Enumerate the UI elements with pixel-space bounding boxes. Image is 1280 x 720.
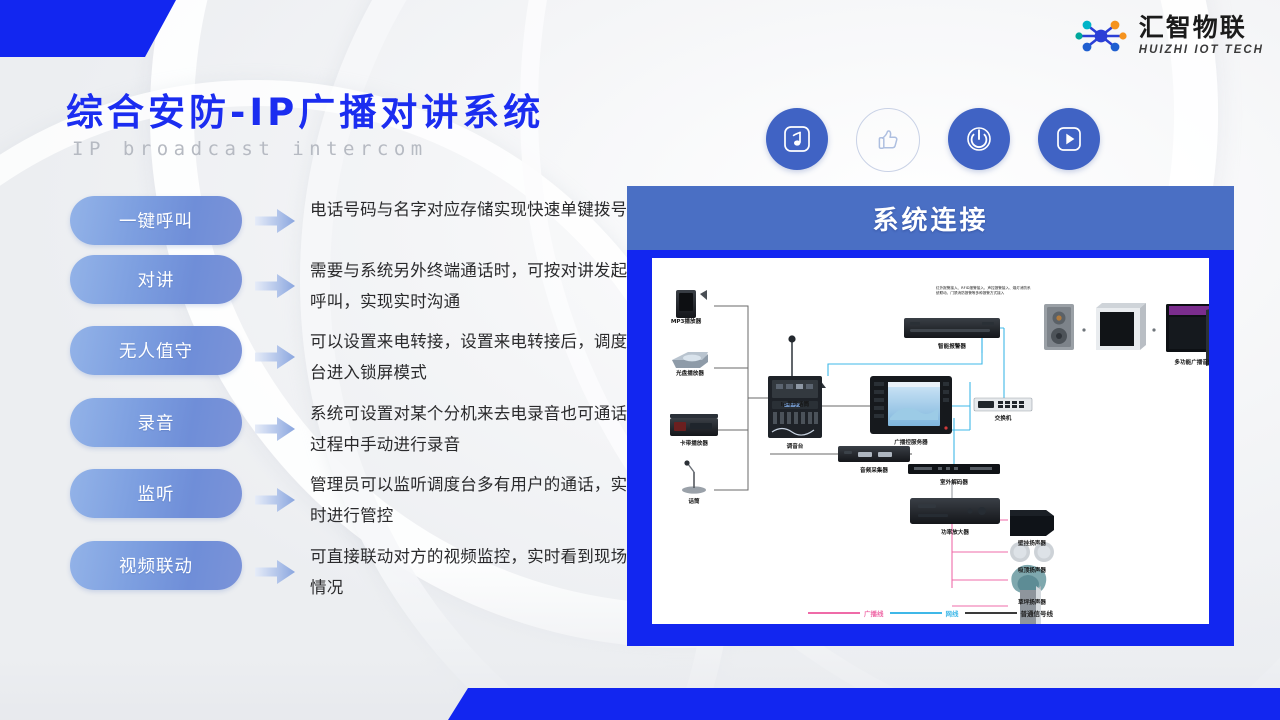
thumbs-up-icon [871, 123, 905, 157]
corner-decoration-bottom-right [448, 688, 1280, 720]
alarm-input-note: 红外报警接入、RFID报警接入、声控报警接入、煤灯消防系统联动、门禁消防报警等多… [936, 286, 1032, 296]
icon-button-row [766, 108, 1100, 172]
device-label: Ip寻呼话筒 [765, 400, 825, 408]
legend-swatch [965, 612, 1017, 614]
feature-tag-unattended[interactable]: 无人值守 [70, 326, 242, 375]
device-label: 广播控服务器 [866, 438, 956, 446]
play-icon-button[interactable] [1038, 108, 1100, 170]
feature-tag-label: 一键呼叫 [119, 208, 193, 233]
play-icon [1052, 122, 1086, 156]
device-power-amplifier: 功率放大器 [915, 527, 995, 536]
device-wall-speaker: 壁挂扬声器 [992, 538, 1072, 547]
feature-tag-recording[interactable]: 录音 [70, 398, 242, 447]
device-audio-collector: 音频采集器 [834, 465, 914, 474]
device-label: 功率放大器 [915, 528, 995, 536]
device-broadcast-server: 广播控服务器 [866, 437, 956, 446]
power-icon [962, 122, 996, 156]
legend-label: 广播线 [864, 608, 884, 618]
feature-tag-label: 视频联动 [119, 553, 193, 578]
feature-tag-label: 对讲 [138, 267, 175, 292]
arrow-right-icon [246, 272, 304, 300]
page-title: 综合安防-IP广播对讲系统 [66, 82, 544, 136]
device-lawn-speaker: 草坪扬声器 [992, 597, 1072, 606]
feature-row: 监听 管理员可以监听调度台多有用户的通话，实时进行管控 [70, 469, 630, 531]
feature-description: 电话号码与名字对应存储实现快速单键拨号 [304, 194, 630, 225]
feature-description: 系统可设置对某个分机来去电录音也可通话过程中手动进行录音 [304, 398, 630, 460]
device-label: 调音台 [765, 442, 825, 450]
corner-decoration-top-left [0, 0, 176, 57]
music-note-icon [780, 122, 814, 156]
legend-item-broadcast-line: 广播线 [808, 608, 884, 618]
brand-name-en: HUIZHI IOT TECH [1139, 45, 1264, 57]
feature-tag-video-linkage[interactable]: 视频联动 [70, 541, 242, 590]
arrow-right-icon [246, 415, 304, 443]
molecule-network-icon [1073, 16, 1129, 56]
page-subtitle: IP broadcast intercom [72, 138, 428, 160]
arrow-right-icon [246, 343, 304, 371]
brand-name-cn: 汇智物联 [1139, 15, 1264, 40]
feature-tag-monitoring[interactable]: 监听 [70, 469, 242, 518]
device-outdoor-decoder: 室外解码器 [914, 477, 994, 486]
feature-list: 一键呼叫 电话号码与名字对应存储实现快速单键拨号 对讲 需要与系统另外终端通 [70, 196, 630, 612]
feature-row: 视频联动 可直接联动对方的视频监控，实时看到现场情况 [70, 541, 630, 603]
panel-title: 系统连接 [872, 200, 988, 237]
device-mixer-console: 调音台 [765, 441, 825, 450]
device-label: 吸顶扬声器 [992, 566, 1072, 574]
system-connection-panel: 系统连接 [627, 186, 1234, 646]
device-label: 话筒 [664, 497, 724, 505]
brand-logo: 汇智物联 HUIZHI IOT TECH [1073, 10, 1264, 62]
device-label: 卡带播放器 [664, 439, 724, 447]
feature-description: 需要与系统另外终端通话时，可按对讲发起呼叫，实现实时沟通 [304, 255, 630, 317]
feature-tag-label: 无人值守 [119, 338, 193, 363]
device-multifunction-speaker-cabinet: 多功能广播音箱 [1144, 357, 1209, 366]
arrow-right-icon [246, 558, 304, 586]
power-icon-button[interactable] [948, 108, 1010, 170]
device-label: 音频采集器 [834, 466, 914, 474]
feature-tag-one-key-call[interactable]: 一键呼叫 [70, 196, 242, 245]
device-label: 多功能广播音箱 [1144, 358, 1209, 366]
slide-root: 汇智物联 HUIZHI IOT TECH 综合安防-IP广播对讲系统 IP br… [0, 0, 1280, 720]
feature-description: 管理员可以监听调度台多有用户的通话，实时进行管控 [304, 469, 630, 531]
device-label: 草坪扬声器 [992, 598, 1072, 606]
feature-row: 录音 系统可设置对某个分机来去电录音也可通话过程中手动进行录音 [70, 398, 630, 460]
legend-swatch [808, 612, 860, 614]
legend-item-network-line: 网线 [890, 608, 959, 618]
legend-item-signal-line: 普通信号线 [965, 608, 1054, 618]
device-smart-alarm: 智能报警器 [922, 341, 982, 350]
music-note-icon-button[interactable] [766, 108, 828, 170]
device-microphone: 话筒 [664, 496, 724, 505]
arrow-right-icon [246, 486, 304, 514]
feature-description: 可以设置来电转接，设置来电转接后，调度台进入锁屏模式 [304, 326, 630, 388]
feature-tag-intercom[interactable]: 对讲 [70, 255, 242, 304]
device-label: 光盘播放器 [660, 369, 720, 377]
diagram-legend: 广播线 网线 普通信号线 [652, 608, 1209, 618]
legend-swatch [890, 612, 942, 614]
device-switch: 交换机 [973, 413, 1033, 422]
device-label: 交换机 [973, 414, 1033, 422]
device-ceiling-speaker: 吸顶扬声器 [992, 565, 1072, 574]
legend-label: 网线 [946, 608, 959, 618]
device-tape-player: 卡带播放器 [664, 438, 724, 447]
feature-description: 可直接联动对方的视频监控，实时看到现场情况 [304, 541, 630, 603]
feature-row: 无人值守 可以设置来电转接，设置来电转接后，调度台进入锁屏模式 [70, 326, 630, 388]
feature-row: 对讲 需要与系统另外终端通话时，可按对讲发起呼叫，实现实时沟通 [70, 255, 630, 317]
panel-header: 系统连接 [627, 186, 1234, 250]
arrow-right-icon [246, 207, 304, 235]
device-cd-player: 光盘播放器 [660, 368, 720, 377]
device-label: 室外解码器 [914, 478, 994, 486]
device-mp3-player: MP3播放器 [656, 316, 716, 325]
device-label: 智能报警器 [922, 342, 982, 350]
legend-label: 普通信号线 [1021, 608, 1054, 618]
feature-tag-label: 监听 [138, 481, 175, 506]
device-ip-paging-mic: Ip寻呼话筒 [765, 399, 825, 408]
feature-tag-label: 录音 [138, 410, 175, 435]
device-label: 壁挂扬声器 [992, 539, 1072, 547]
panel-body: Hisense [652, 258, 1209, 624]
feature-row: 一键呼叫 电话号码与名字对应存储实现快速单键拨号 [70, 196, 630, 245]
device-label: MP3播放器 [656, 317, 716, 325]
thumbs-up-icon-button[interactable] [856, 108, 920, 172]
